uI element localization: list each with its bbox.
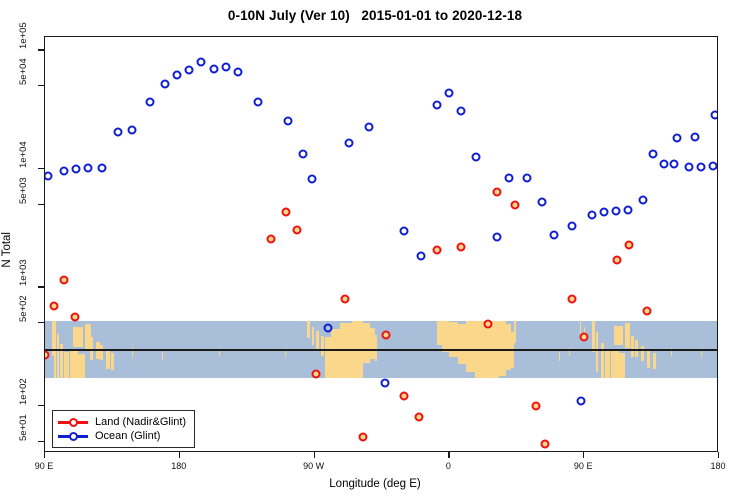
x-tick-label: 90 E xyxy=(35,461,54,471)
data-point-ocean xyxy=(599,208,608,217)
data-point-ocean xyxy=(400,226,409,235)
data-point-ocean xyxy=(709,162,718,171)
landmass xyxy=(375,335,378,361)
landmass xyxy=(653,353,656,369)
landmass xyxy=(611,350,618,378)
y-tick xyxy=(38,322,44,323)
data-point-ocean xyxy=(298,149,307,158)
y-tick xyxy=(38,85,44,86)
landmass xyxy=(52,321,56,356)
landmass xyxy=(647,350,650,368)
data-point-ocean xyxy=(673,134,682,143)
data-point-ocean xyxy=(172,71,181,80)
y-axis-title: N Total xyxy=(0,0,16,500)
landmass xyxy=(340,323,352,378)
x-tick-label: 0 xyxy=(446,461,451,471)
x-tick xyxy=(583,452,584,458)
data-point-ocean xyxy=(234,67,243,76)
data-point-ocean xyxy=(97,163,106,172)
landmass xyxy=(100,345,102,360)
landmass xyxy=(54,356,56,378)
data-point-ocean xyxy=(623,206,632,215)
y-tick xyxy=(38,286,44,287)
data-point-ocean xyxy=(550,231,559,240)
landmass xyxy=(331,329,340,378)
data-point-ocean xyxy=(210,64,219,73)
landmass xyxy=(466,321,475,372)
plot-area xyxy=(44,36,718,452)
data-point-land xyxy=(49,301,58,310)
landmass xyxy=(162,352,163,360)
data-point-ocean xyxy=(324,324,333,333)
data-point-ocean xyxy=(638,195,647,204)
data-point-ocean xyxy=(493,233,502,242)
data-point-land xyxy=(625,240,634,249)
landmass xyxy=(631,336,634,358)
x-tick-label: 90 E xyxy=(574,461,593,471)
landmass xyxy=(514,321,516,343)
landmass xyxy=(73,327,83,347)
landmass xyxy=(316,331,319,350)
landmass xyxy=(442,321,449,352)
data-point-ocean xyxy=(127,125,136,134)
data-point-ocean xyxy=(380,379,389,388)
data-point-ocean xyxy=(505,173,514,182)
data-point-land xyxy=(580,333,589,342)
landmass xyxy=(641,346,643,361)
data-point-ocean xyxy=(114,128,123,137)
x-tick xyxy=(179,452,180,458)
data-point-ocean xyxy=(160,80,169,89)
landmass xyxy=(363,323,370,363)
data-point-ocean xyxy=(184,66,193,75)
data-point-ocean xyxy=(307,175,316,184)
x-tick-label: 180 xyxy=(710,461,725,471)
data-point-ocean xyxy=(145,98,154,107)
landmass xyxy=(70,351,77,378)
landmass xyxy=(605,351,609,378)
data-point-ocean xyxy=(649,149,658,158)
x-axis-title: Longitude (deg E) xyxy=(0,478,750,490)
data-point-ocean xyxy=(364,123,373,132)
landmass xyxy=(596,332,598,372)
data-point-ocean xyxy=(587,210,596,219)
data-point-ocean xyxy=(710,111,718,120)
data-point-ocean xyxy=(523,173,532,182)
data-point-ocean xyxy=(222,63,231,72)
legend-swatch-land-icon xyxy=(58,416,88,428)
data-point-land xyxy=(532,401,541,410)
data-point-ocean xyxy=(416,251,425,260)
landmass xyxy=(106,350,109,369)
landmass xyxy=(625,323,630,348)
landmass xyxy=(321,336,324,356)
data-point-ocean xyxy=(253,98,262,107)
data-point-land xyxy=(60,276,69,285)
data-point-ocean xyxy=(691,133,700,142)
y-tick xyxy=(38,441,44,442)
y-tick xyxy=(38,405,44,406)
landmass xyxy=(592,321,595,352)
legend-item-ocean: Ocean (Glint) xyxy=(58,429,186,443)
landmass xyxy=(614,326,623,345)
data-point-ocean xyxy=(568,221,577,230)
data-point-land xyxy=(643,307,652,316)
x-tick xyxy=(448,452,449,458)
data-point-ocean xyxy=(196,57,205,66)
data-point-ocean xyxy=(445,88,454,97)
legend-item-land: Land (Nadir&Glint) xyxy=(58,415,186,429)
data-point-ocean xyxy=(472,153,481,162)
reference-line xyxy=(45,349,717,350)
data-point-land xyxy=(340,294,349,303)
data-point-ocean xyxy=(659,160,668,169)
y-tick xyxy=(38,204,44,205)
data-point-land xyxy=(312,370,321,379)
data-point-ocean xyxy=(433,100,442,109)
data-point-ocean xyxy=(345,139,354,148)
legend-label-land: Land (Nadir&Glint) xyxy=(95,416,186,428)
data-point-ocean xyxy=(60,166,69,175)
data-point-land xyxy=(457,242,466,251)
data-point-ocean xyxy=(84,164,93,173)
data-point-land xyxy=(358,432,367,441)
data-point-land xyxy=(511,200,520,209)
data-point-ocean xyxy=(577,396,586,405)
x-tick xyxy=(314,452,315,458)
data-point-land xyxy=(70,313,79,322)
data-point-ocean xyxy=(538,197,547,206)
data-point-land xyxy=(484,320,493,329)
legend: Land (Nadir&Glint) Ocean (Glint) xyxy=(52,410,195,448)
landmass xyxy=(90,337,93,360)
landmass xyxy=(559,352,560,361)
data-point-ocean xyxy=(72,165,81,174)
y-tick xyxy=(38,49,44,50)
landmass xyxy=(312,327,314,345)
data-point-land xyxy=(493,187,502,196)
data-point-ocean xyxy=(670,160,679,169)
landmass xyxy=(111,353,114,370)
landmass xyxy=(132,347,133,357)
x-tick xyxy=(718,452,719,458)
data-point-ocean xyxy=(457,106,466,115)
x-tick xyxy=(44,452,45,458)
data-point-land xyxy=(433,246,442,255)
data-point-ocean xyxy=(697,162,706,171)
data-point-ocean xyxy=(611,207,620,216)
data-point-ocean xyxy=(685,162,694,171)
landmass xyxy=(285,351,286,358)
landmass xyxy=(449,322,458,357)
data-point-land xyxy=(541,439,550,448)
x-tick-label: 180 xyxy=(171,461,186,471)
x-tick-label: 90 W xyxy=(303,461,324,471)
landmass xyxy=(64,352,68,378)
landmass xyxy=(78,354,85,378)
data-point-land xyxy=(292,226,301,235)
data-point-land xyxy=(282,208,291,217)
data-point-land xyxy=(415,413,424,422)
data-point-land xyxy=(382,331,391,340)
data-point-land xyxy=(267,235,276,244)
data-point-land xyxy=(568,294,577,303)
landmass xyxy=(619,353,625,378)
data-point-ocean xyxy=(283,116,292,125)
landmass xyxy=(307,321,309,338)
page-title: 0-10N July (Ver 10) 2015-01-01 to 2020-1… xyxy=(0,8,750,23)
data-point-land xyxy=(400,392,409,401)
landmass xyxy=(701,351,702,358)
y-tick xyxy=(38,168,44,169)
landmass xyxy=(601,343,604,378)
landmass xyxy=(458,324,465,364)
data-point-land xyxy=(613,256,622,265)
data-point-ocean xyxy=(44,171,52,180)
legend-swatch-ocean-icon xyxy=(58,430,88,442)
legend-label-ocean: Ocean (Glint) xyxy=(95,430,160,442)
